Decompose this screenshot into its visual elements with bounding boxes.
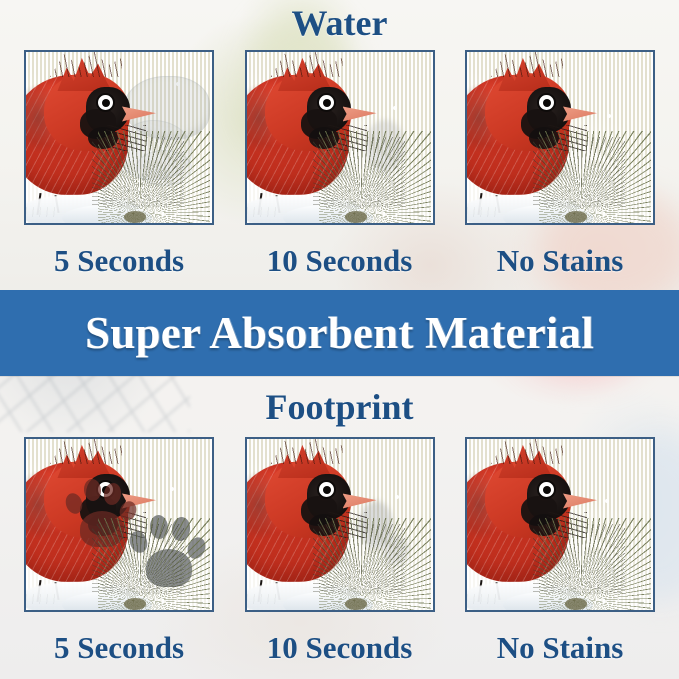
caption-footprint-1: 5 Seconds <box>24 630 214 666</box>
pine-bough <box>98 518 210 612</box>
pine-bough <box>319 131 431 225</box>
water-caption-row: 5 Seconds 10 Seconds No Stains <box>0 243 679 279</box>
footprint-cell-2 <box>245 437 435 612</box>
caption-footprint-3: No Stains <box>465 630 655 666</box>
footprint-panel-5-seconds[interactable] <box>24 437 214 612</box>
footprint-panel-no-stains[interactable] <box>465 437 655 612</box>
water-panel-5-seconds[interactable] <box>24 50 214 225</box>
water-panel-no-stains[interactable] <box>465 50 655 225</box>
water-panel-row <box>0 50 679 225</box>
pine-bough <box>319 518 431 612</box>
footprint-cell-3 <box>465 437 655 612</box>
pine-bough <box>539 131 651 225</box>
footprint-panel-10-seconds[interactable] <box>245 437 435 612</box>
caption-water-1: 5 Seconds <box>24 243 214 279</box>
section-title-footprint: Footprint <box>0 386 679 428</box>
section-title-water: Water <box>0 2 679 44</box>
footprint-cell-1 <box>24 437 214 612</box>
caption-water-3: No Stains <box>465 243 655 279</box>
footprint-panel-row <box>0 437 679 612</box>
caption-water-2: 10 Seconds <box>245 243 435 279</box>
water-cell-1 <box>24 50 214 225</box>
water-panel-10-seconds[interactable] <box>245 50 435 225</box>
banner-text: Super Absorbent Material <box>85 307 594 359</box>
super-absorbent-banner: Super Absorbent Material <box>0 290 679 376</box>
caption-footprint-2: 10 Seconds <box>245 630 435 666</box>
pine-bough <box>98 131 210 225</box>
product-infographic: Water <box>0 0 679 679</box>
footprint-caption-row: 5 Seconds 10 Seconds No Stains <box>0 630 679 666</box>
water-cell-2 <box>245 50 435 225</box>
pine-bough <box>539 518 651 612</box>
water-cell-3 <box>465 50 655 225</box>
